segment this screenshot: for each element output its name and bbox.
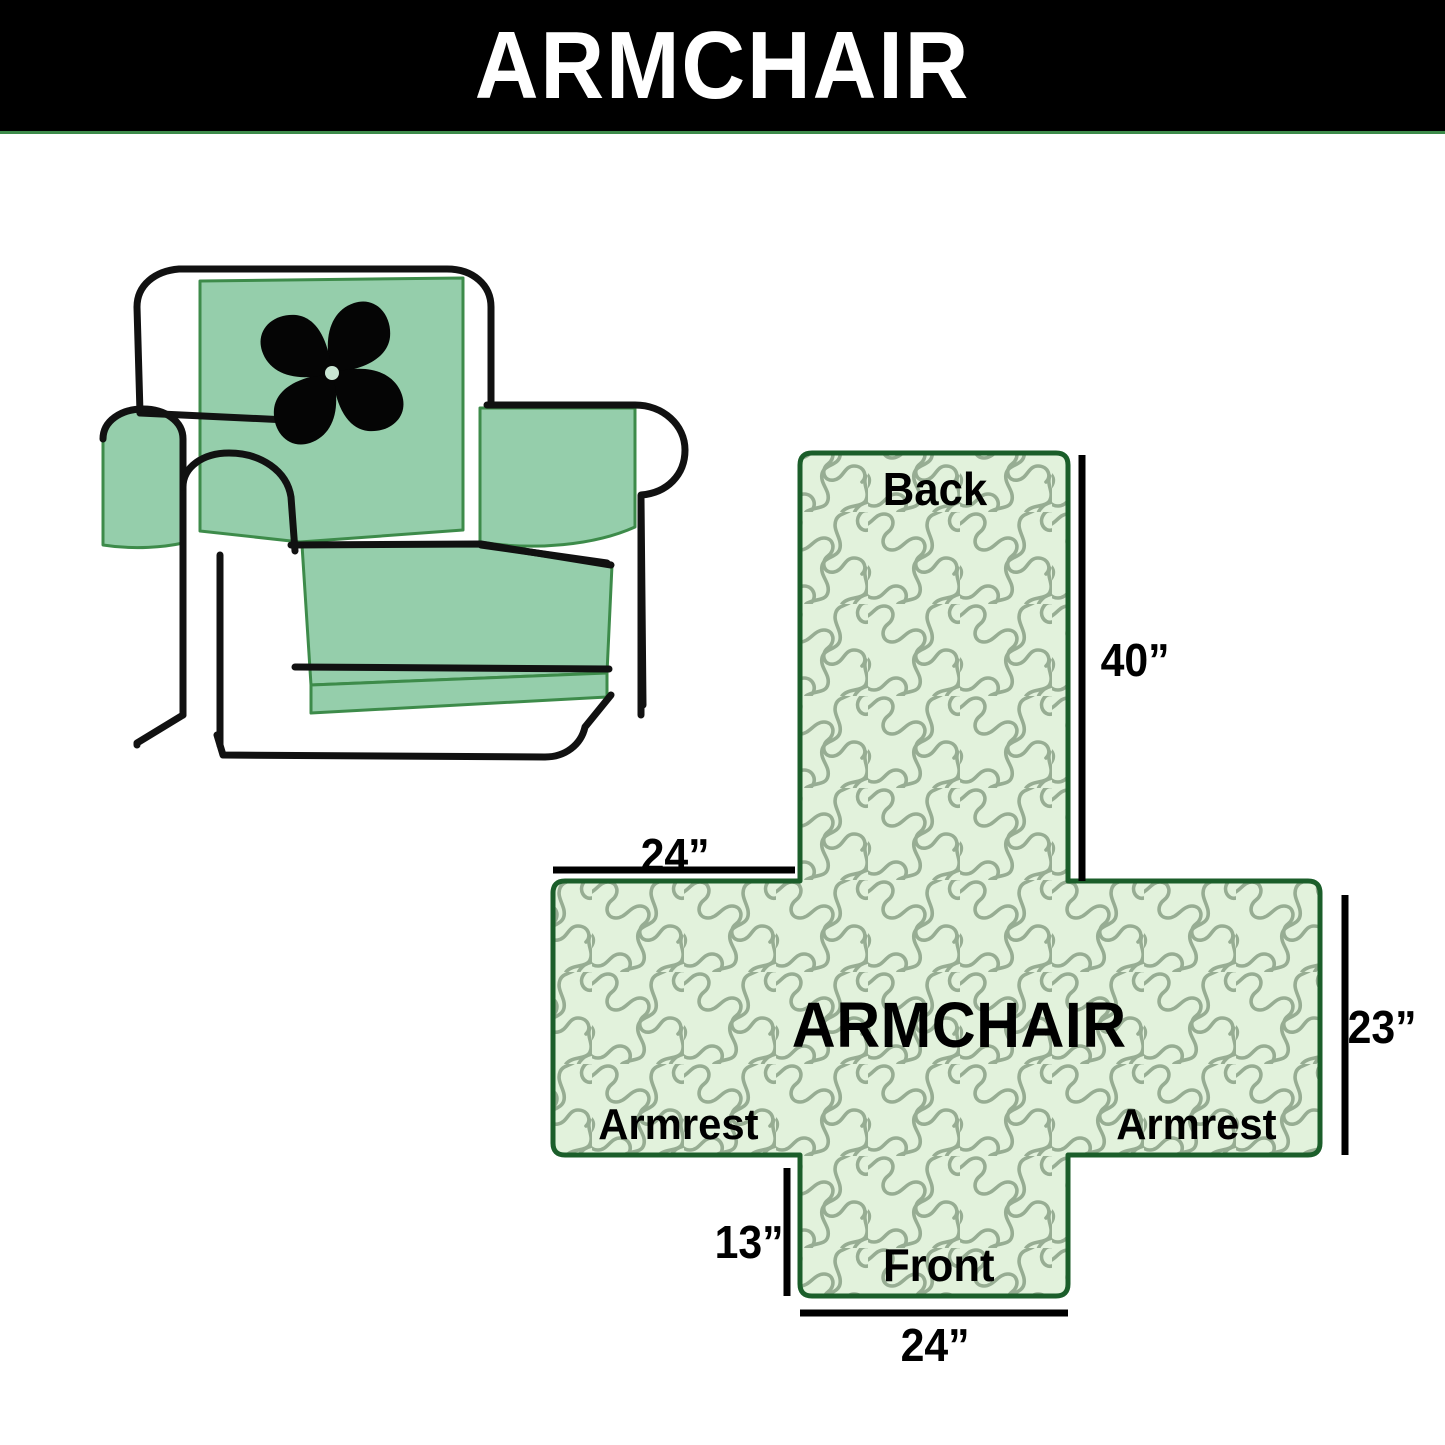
- illustration-armrest-left-panel: [103, 411, 183, 548]
- armchair-slipcover-size-diagram: ARMCHAIR: [0, 0, 1445, 1445]
- header-banner: ARMCHAIR: [0, 0, 1445, 134]
- dimension-label-back-height: 40”: [1101, 633, 1170, 687]
- panel-label-armrest-left: Armrest: [598, 1100, 758, 1150]
- panel-label-back: Back: [883, 462, 987, 516]
- illustration-base-left: [137, 715, 183, 745]
- panel-label-center: ARMCHAIR: [792, 988, 1127, 1062]
- dimension-label-front-width: 24”: [901, 1318, 970, 1372]
- panel-label-armrest-right: Armrest: [1116, 1100, 1276, 1150]
- dimension-label-armrest-width: 24”: [641, 828, 710, 882]
- dimension-label-front-height: 13”: [715, 1215, 784, 1269]
- page-title: ARMCHAIR: [58, 0, 1387, 131]
- dimension-label-center-height: 23”: [1348, 1000, 1417, 1054]
- panel-label-front: Front: [883, 1238, 995, 1292]
- slipcover-pattern-diagram: [500, 420, 1445, 1380]
